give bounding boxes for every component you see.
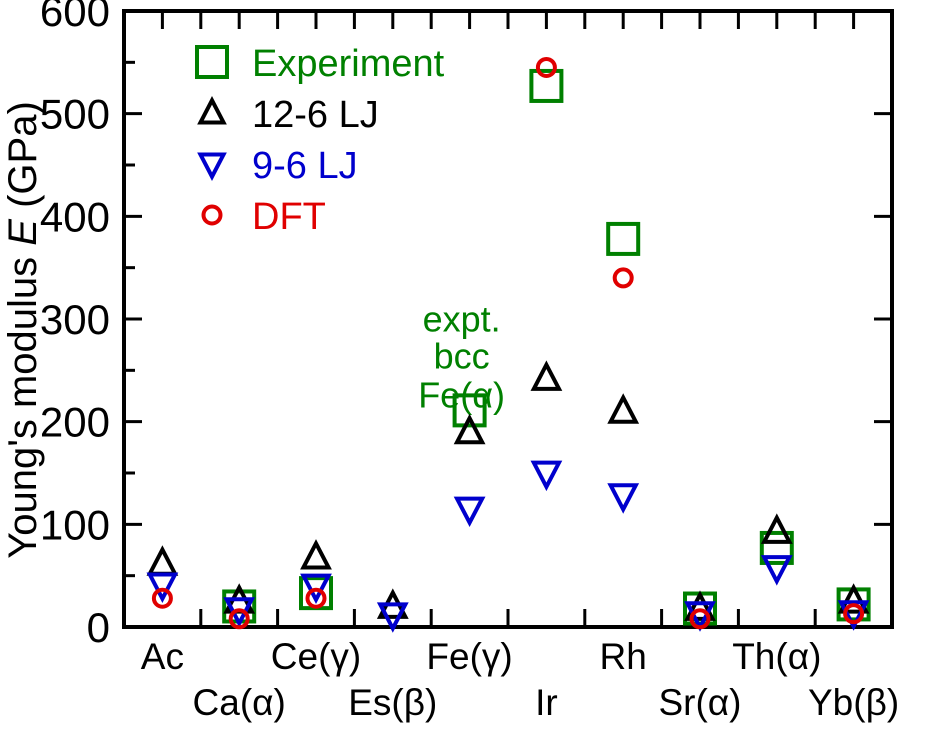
y-tick-label: 300	[40, 296, 110, 343]
x-tick-label-ybβ: Yb(β)	[808, 682, 899, 723]
x-axis-ticks	[201, 609, 815, 627]
y-axis-title-symbol: E	[1, 218, 45, 246]
datapoint-12-6-lj-ac	[150, 550, 175, 574]
youngs-modulus-scatter-chart: 0100200300400500600 AcCa(α)Ce(γ)Es(β)Fe(…	[0, 0, 944, 741]
legend-label: Experiment	[252, 43, 445, 85]
series-12-6-lj	[150, 365, 866, 619]
annotation-text: bcc	[434, 335, 490, 376]
y-tick-label: 100	[40, 501, 110, 548]
y-tick-label: 400	[40, 193, 110, 240]
legend-label: DFT	[252, 196, 326, 238]
x-tick-label-rh: Rh	[600, 636, 647, 677]
datapoint-dft-ir	[538, 59, 555, 76]
legend-label: 9-6 LJ	[252, 145, 358, 187]
datapoint-experiment-rh	[608, 224, 638, 254]
datapoint-9-6-lj-feγ	[457, 499, 482, 523]
svg-text:Young's modulus E (GPa): Young's modulus E (GPa)	[1, 101, 45, 559]
legend-marker-circle	[204, 207, 221, 224]
legend-entry-experiment[interactable]: Experiment	[197, 43, 445, 85]
x-tick-label-ac: Ac	[141, 636, 184, 677]
legend-entry-9-6-lj[interactable]: 9-6 LJ	[200, 145, 357, 187]
legend-label: 12-6 LJ	[252, 94, 379, 136]
datapoint-9-6-lj-ir	[534, 463, 559, 487]
x-tick-label-thα: Th(α)	[732, 636, 821, 677]
legend-entry-12-6-lj[interactable]: 12-6 LJ	[200, 94, 378, 136]
x-tick-label-caα: Ca(α)	[193, 682, 286, 723]
legend-marker-triangle-down	[200, 155, 223, 177]
chart-annotations: expt.bccFe(α)	[418, 298, 505, 415]
x-axis-tick-labels: AcCa(α)Ce(γ)Es(β)Fe(γ)IrRhSr(α)Th(α)Yb(β…	[141, 636, 899, 723]
datapoint-12-6-lj-feγ	[457, 418, 482, 442]
y-axis-title: Young's modulus E (GPa)	[1, 101, 45, 559]
datapoint-12-6-lj-ir	[534, 365, 559, 389]
datapoint-9-6-lj-thα	[764, 557, 789, 581]
datapoint-12-6-lj-thα	[764, 518, 789, 542]
y-tick-label: 500	[40, 91, 110, 138]
legend-marker-triangle-up	[200, 100, 223, 122]
x-tick-label-esβ: Es(β)	[348, 682, 437, 723]
x-tick-label-srα: Sr(α)	[658, 682, 741, 723]
legend-marker-square	[197, 47, 227, 77]
x-tick-label-feγ: Fe(γ)	[426, 636, 512, 677]
chart-legend: Experiment12-6 LJ9-6 LJDFT	[197, 43, 445, 238]
chart-canvas: 0100200300400500600 AcCa(α)Ce(γ)Es(β)Fe(…	[0, 0, 944, 741]
x-axis-ticks-top	[162, 11, 853, 29]
y-tick-label: 200	[40, 399, 110, 446]
datapoint-9-6-lj-rh	[611, 485, 636, 509]
datapoint-dft-rh	[615, 269, 632, 286]
annotation-text: expt.	[423, 298, 501, 339]
y-tick-label: 600	[40, 0, 110, 35]
series-9-6-lj	[150, 463, 866, 629]
y-tick-label: 0	[87, 604, 110, 651]
legend-entry-dft[interactable]: DFT	[204, 196, 326, 238]
x-tick-label-ceγ: Ce(γ)	[271, 636, 361, 677]
x-tick-label-ir: Ir	[535, 682, 558, 723]
y-axis-title-suffix: (GPa)	[1, 101, 45, 219]
datapoint-12-6-lj-rh	[611, 398, 636, 422]
y-axis-title-prefix: Young's modulus	[1, 246, 45, 559]
datapoint-12-6-lj-ceγ	[303, 543, 328, 567]
y-axis-tick-labels: 0100200300400500600	[40, 0, 110, 651]
